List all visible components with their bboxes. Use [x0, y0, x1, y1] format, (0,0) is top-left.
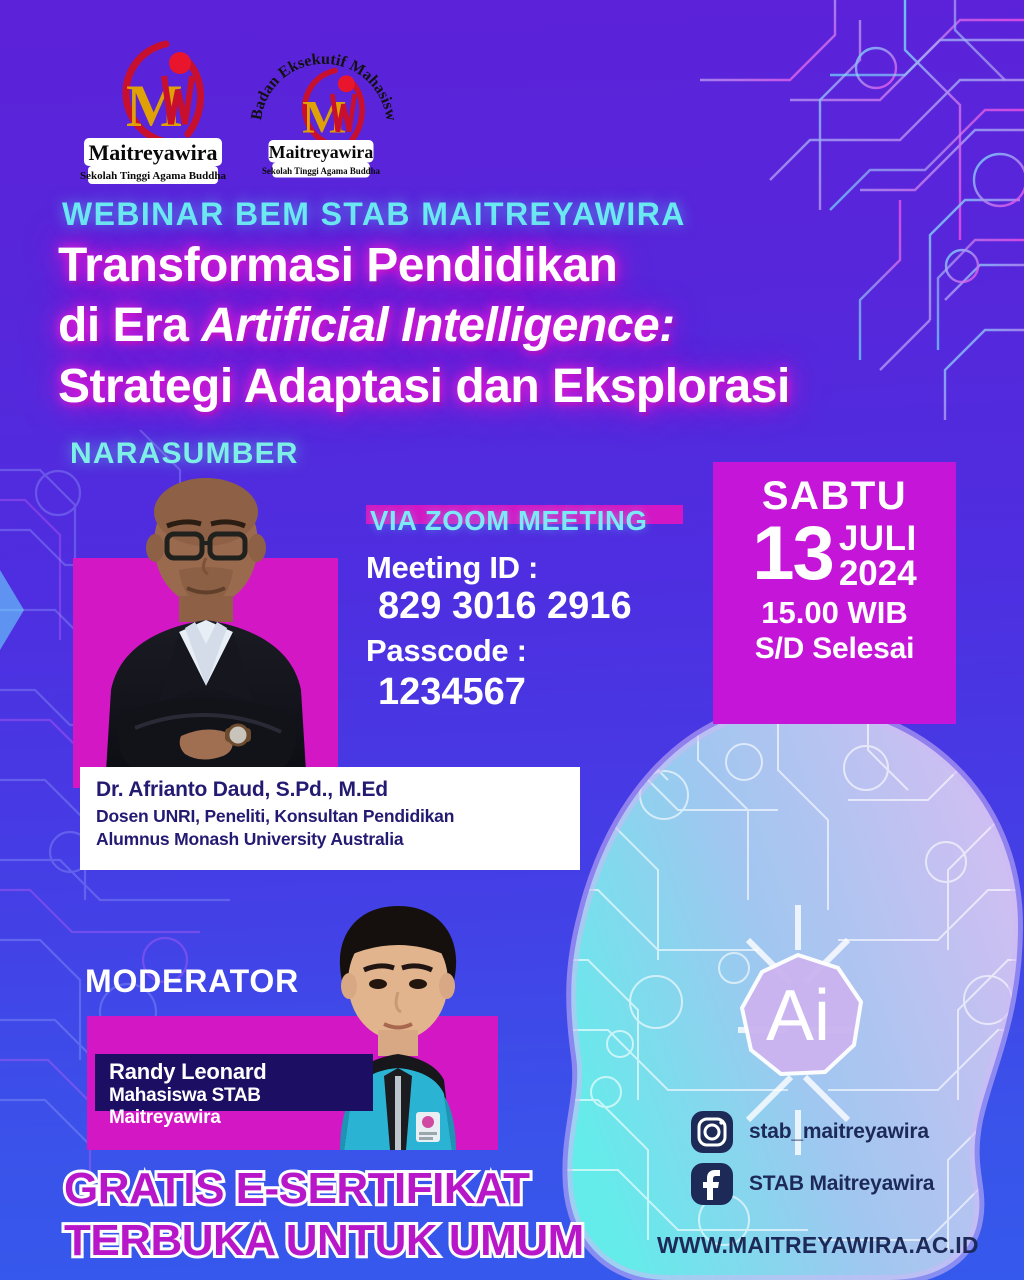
title-line-1: Transformasi Pendidikan [58, 236, 958, 296]
moderator-role: Mahasiswa STAB Maitreyawira [109, 1085, 373, 1129]
ai-chip-label: Ai [766, 976, 830, 1056]
poster-kicker: WEBINAR BEM STAB MAITREYAWIRA [62, 196, 686, 233]
logo-subtitle-2: Sekolah Tinggi Agama Buddha [262, 166, 381, 176]
logo-bem-maitreyawira: Badan Eksekutif Mahasiswa (BEM) M Maitre… [246, 30, 396, 190]
facebook-icon[interactable] [690, 1162, 734, 1206]
facebook-handle: STAB Maitreyawira [749, 1172, 934, 1196]
promo-line-2: TERBUKA UNTUK UMUM [64, 1215, 624, 1267]
passcode-label: Passcode : [366, 633, 706, 669]
speaker-role-line-2: Alumnus Monash University Australia [96, 828, 566, 851]
social-links: stab_maitreyawira STAB Maitreyawira [690, 1110, 934, 1214]
moderator-name: Randy Leonard [109, 1059, 373, 1085]
zoom-heading: VIA ZOOM MEETING [366, 503, 653, 539]
meeting-id-value[interactable]: 829 3016 2916 [366, 585, 706, 628]
title-line-2-italic: Artificial Intelligence: [201, 299, 674, 352]
zoom-heading-text: VIA ZOOM MEETING [370, 505, 647, 536]
logo-row: M Maitreyawira Sekolah Tinggi Agama Budd… [78, 30, 408, 190]
zoom-info-block: VIA ZOOM MEETING Meeting ID : 829 3016 2… [366, 503, 706, 714]
event-day-number: 13 [752, 519, 833, 590]
promo-line-1: GRATIS E-SERTIFIKAT [64, 1163, 624, 1215]
event-day-name: SABTU [713, 474, 956, 519]
instagram-icon[interactable] [690, 1110, 734, 1154]
title-line-2: di Era Artificial Intelligence: [58, 296, 958, 356]
facebook-row[interactable]: STAB Maitreyawira [690, 1162, 934, 1206]
meeting-id-label: Meeting ID : [366, 550, 706, 586]
promo-text: GRATIS E-SERTIFIKAT TERBUKA UNTUK UMUM [64, 1163, 624, 1267]
speaker-role-line-1: Dosen UNRI, Peneliti, Konsultan Pendidik… [96, 805, 566, 828]
speaker-section-label: NARASUMBER [70, 437, 299, 471]
speaker-photo [75, 470, 337, 788]
event-month: JULI [839, 521, 917, 556]
logo-title-1: Maitreyawira [88, 140, 217, 165]
logo-subtitle-1: Sekolah Tinggi Agama Buddha [80, 170, 227, 182]
speaker-info-card: Dr. Afrianto Daud, S.Pd., M.Ed Dosen UNR… [80, 767, 580, 870]
logo-title-2: Maitreyawira [269, 142, 374, 162]
title-line-2-pre: di Era [58, 299, 201, 352]
instagram-handle: stab_maitreyawira [749, 1120, 929, 1144]
moderator-section-label: MODERATOR [85, 963, 299, 1000]
event-time: 15.00 WIB [713, 595, 956, 631]
webinar-poster: Ai M Maitreyawira Sekolah Tinggi Agama B… [0, 0, 1024, 1280]
website-url[interactable]: WWW.MAITREYAWIRA.AC.ID [657, 1232, 979, 1259]
logo-maitreyawira: M Maitreyawira Sekolah Tinggi Agama Budd… [78, 30, 228, 190]
event-until: S/D Selesai [713, 632, 956, 666]
event-month-year: JULI 2024 [839, 517, 917, 591]
passcode-value[interactable]: 1234567 [366, 671, 706, 714]
event-date-row: 13 JULI 2024 [713, 517, 956, 591]
poster-title: Transformasi Pendidikan di Era Artificia… [58, 236, 958, 417]
event-year: 2024 [839, 556, 917, 591]
event-date-box: SABTU 13 JULI 2024 15.00 WIB S/D Selesai [713, 462, 956, 724]
instagram-row[interactable]: stab_maitreyawira [690, 1110, 934, 1154]
title-line-3: Strategi Adaptasi dan Eksplorasi [58, 357, 958, 417]
moderator-info-band: Randy Leonard Mahasiswa STAB Maitreyawir… [95, 1054, 373, 1111]
speaker-name: Dr. Afrianto Daud, S.Pd., M.Ed [96, 778, 566, 802]
